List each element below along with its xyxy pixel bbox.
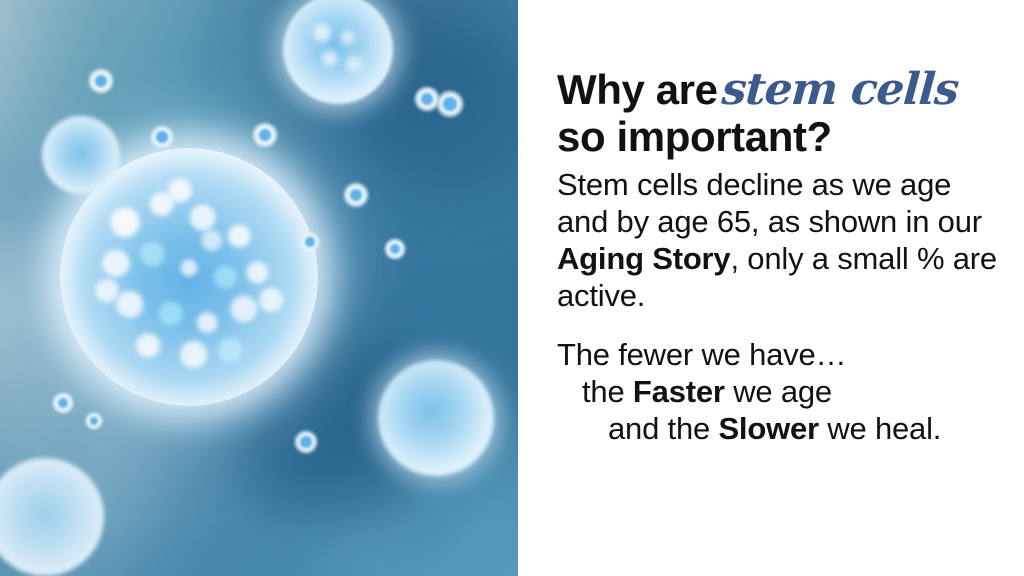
fewer-line-2: the Faster we age — [557, 373, 1009, 410]
blur-blob — [131, 517, 349, 576]
headline-part-2: so important? — [557, 113, 832, 160]
mid-left-stem-cell — [42, 116, 120, 194]
slide-canvas: Why arestem cellsso important? Stem cell… — [0, 0, 1024, 576]
decline-text-before-bold: Stem cells decline as we age and by age … — [557, 167, 982, 239]
body-copy: Stem cells decline as we age and by age … — [557, 166, 1009, 447]
lower-right-stem-cell — [378, 360, 494, 476]
stem-cell-image-panel — [0, 0, 518, 576]
small-cell-dot — [252, 122, 278, 148]
faster-emphasis: Faster — [633, 374, 725, 409]
headline-part-1: Why are — [557, 66, 718, 113]
small-cell-dot — [300, 232, 320, 252]
small-cell-dot — [150, 125, 174, 149]
fewer-line-3: and the Slower we heal. — [557, 410, 1009, 447]
headline-script-stem-cells: stem cells — [716, 66, 959, 114]
small-cell-dot — [294, 430, 318, 454]
line-2-before-bold: the — [582, 374, 633, 409]
aging-story-emphasis: Aging Story — [557, 241, 730, 276]
page-title: Why arestem cellsso important? — [557, 66, 1007, 159]
slower-emphasis: Slower — [718, 411, 818, 446]
paragraph-stem-cells-decline: Stem cells decline as we age and by age … — [557, 166, 1009, 314]
small-cell-dot — [384, 238, 406, 260]
text-content-panel: Why arestem cellsso important? Stem cell… — [518, 0, 1024, 576]
line-3-after-bold: we heal. — [819, 411, 941, 446]
small-cell-dot — [436, 90, 464, 118]
line-3-before-bold: and the — [608, 411, 718, 446]
paragraph-fewer-we-have: The fewer we have… the Faster we age and… — [557, 336, 1009, 447]
cell-surface-texture — [298, 9, 377, 88]
small-cell-dot — [52, 392, 74, 414]
fewer-line-1: The fewer we have… — [557, 336, 1009, 373]
line-2-after-bold: we age — [725, 374, 832, 409]
small-cell-dot — [85, 412, 103, 430]
small-cell-dot — [88, 68, 114, 94]
small-cell-dot — [343, 182, 369, 208]
